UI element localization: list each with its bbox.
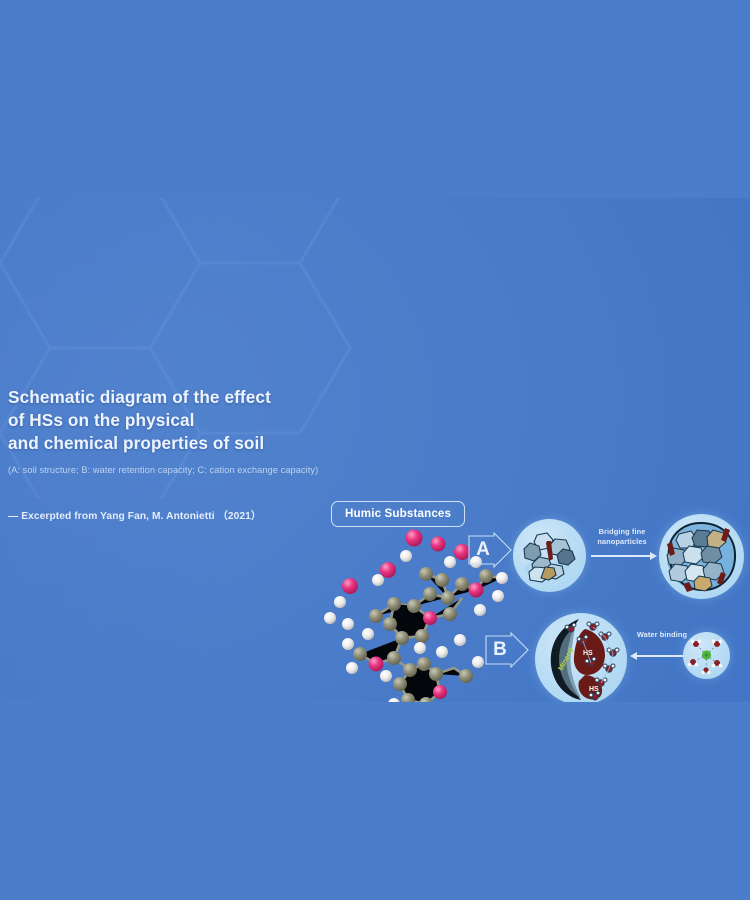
row-c: Cementation C (0, 198, 750, 702)
infographic-banner: Schematic diagram of the effect of HSs o… (0, 198, 750, 702)
page-background: Schematic diagram of the effect of HSs o… (0, 0, 750, 900)
